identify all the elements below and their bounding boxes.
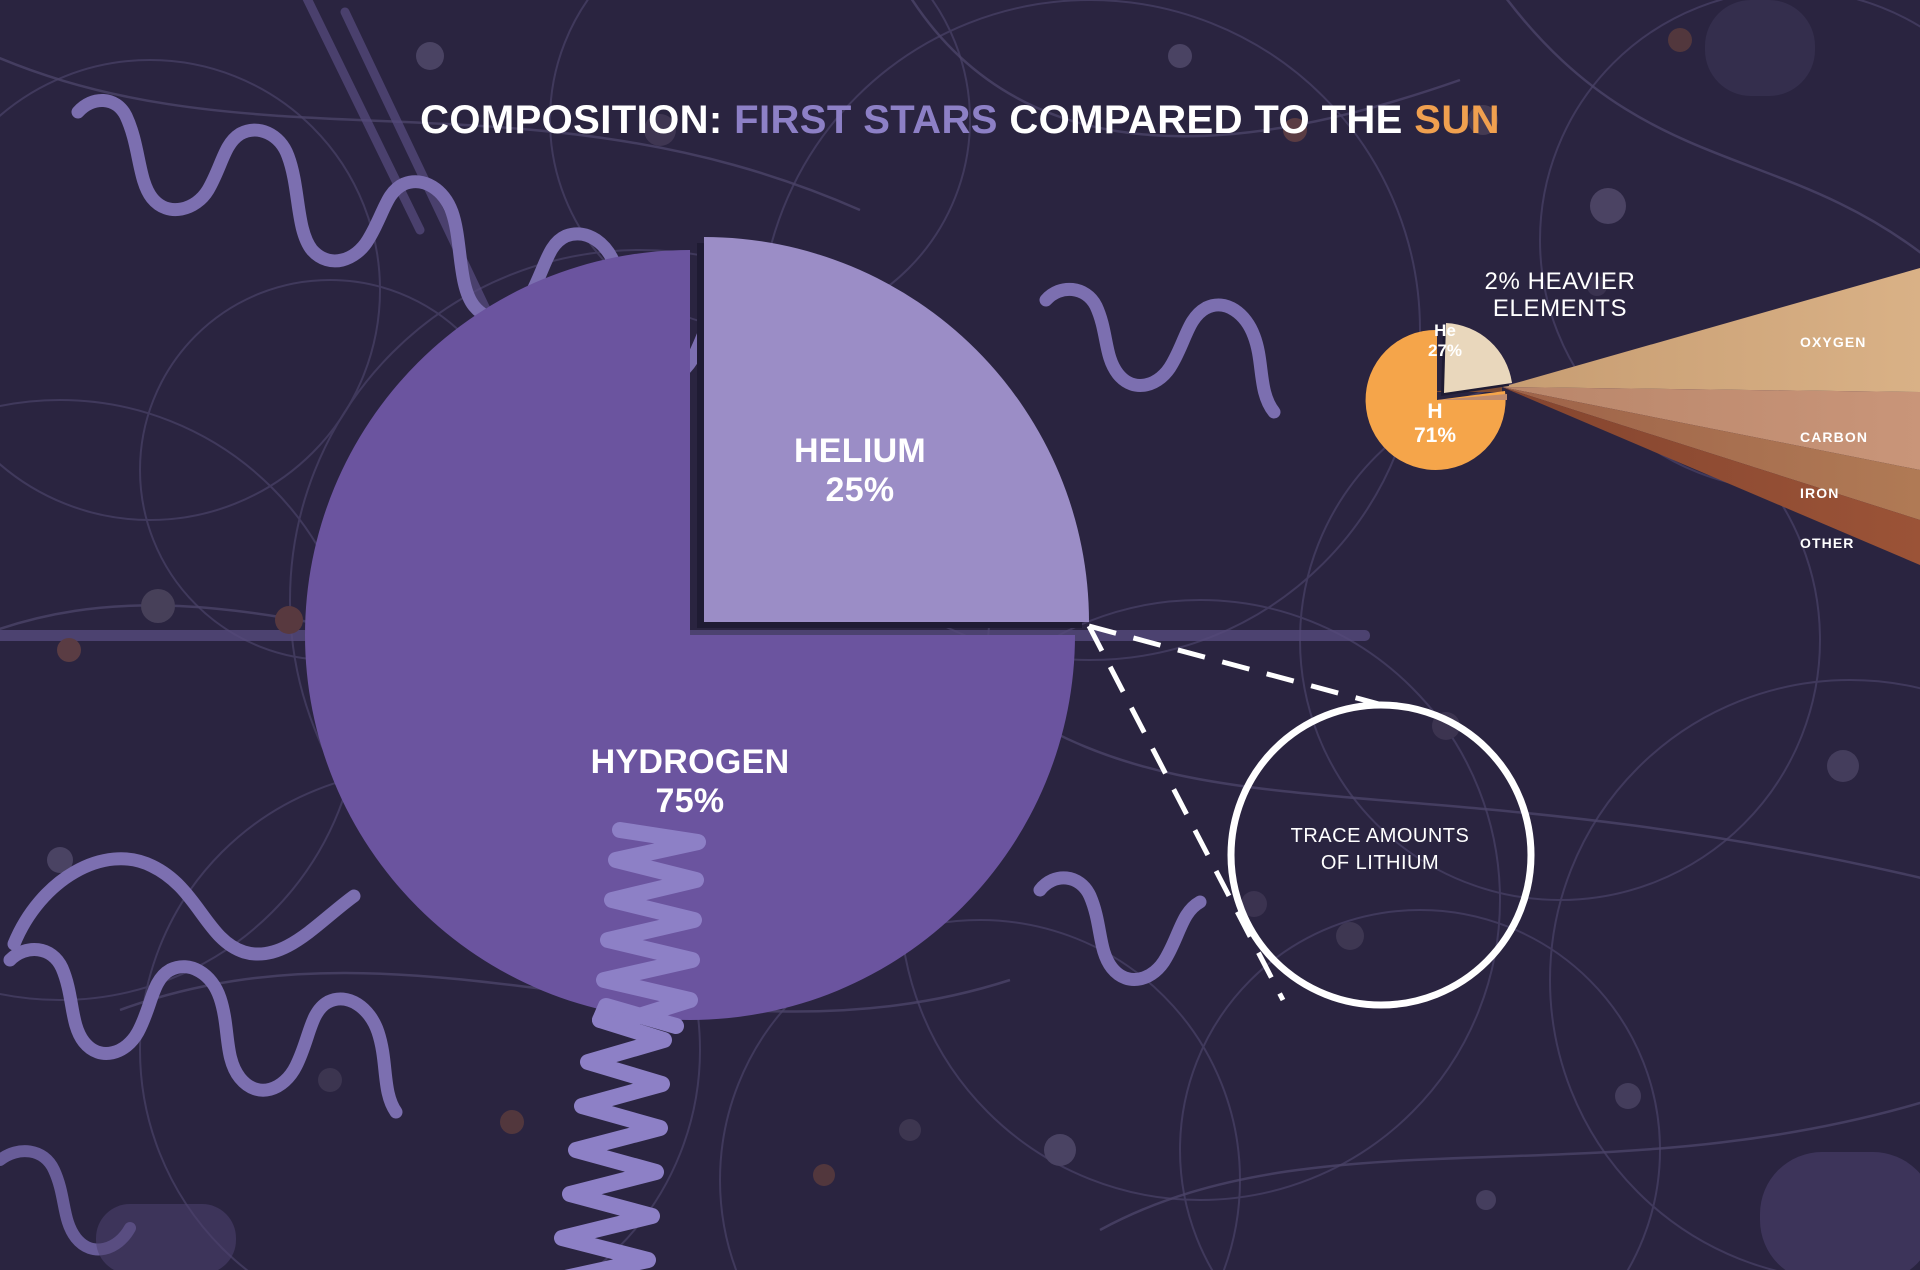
- sun-hydrogen-percent: 71%: [1390, 424, 1480, 448]
- heavier-elements-label: 2% HEAVIER ELEMENTS: [1400, 268, 1720, 323]
- sun-helium-percent: 27%: [1400, 341, 1490, 361]
- element-label-carbon: CARBON: [1800, 429, 1868, 445]
- title-part-composition: COMPOSITION:: [420, 98, 734, 142]
- hydrogen-slice-label: HYDROGEN 75%: [520, 743, 860, 822]
- element-label-iron: IRON: [1800, 485, 1839, 501]
- element-label-oxygen: OXYGEN: [1800, 334, 1867, 350]
- hydrogen-name: HYDROGEN: [520, 743, 860, 782]
- trace-line-2: OF LITHIUM: [1235, 850, 1525, 877]
- title-part-sun: SUN: [1414, 98, 1500, 142]
- title-part-first-stars: FIRST STARS: [734, 98, 998, 142]
- trace-lithium-label: TRACE AMOUNTS OF LITHIUM: [1235, 823, 1525, 877]
- sun-helium-label: He 27%: [1400, 321, 1490, 360]
- hydrogen-percent: 75%: [520, 782, 860, 821]
- heavier-line-1: 2% HEAVIER: [1400, 268, 1720, 295]
- text-layer: COMPOSITION: FIRST STARS COMPARED TO THE…: [0, 0, 1920, 1270]
- sun-helium-name: He: [1400, 321, 1490, 341]
- title-part-compared: COMPARED TO THE: [998, 98, 1414, 142]
- helium-percent: 25%: [700, 471, 1020, 510]
- helium-slice-label: HELIUM 25%: [700, 432, 1020, 511]
- helium-name: HELIUM: [700, 432, 1020, 471]
- infographic-canvas: COMPOSITION: FIRST STARS COMPARED TO THE…: [0, 0, 1920, 1270]
- heavier-line-2: ELEMENTS: [1400, 295, 1720, 322]
- page-title: COMPOSITION: FIRST STARS COMPARED TO THE…: [0, 98, 1920, 143]
- sun-hydrogen-name: H: [1390, 400, 1480, 424]
- trace-line-1: TRACE AMOUNTS: [1235, 823, 1525, 850]
- element-label-other: OTHER: [1800, 535, 1855, 551]
- sun-hydrogen-label: H 71%: [1390, 400, 1480, 448]
